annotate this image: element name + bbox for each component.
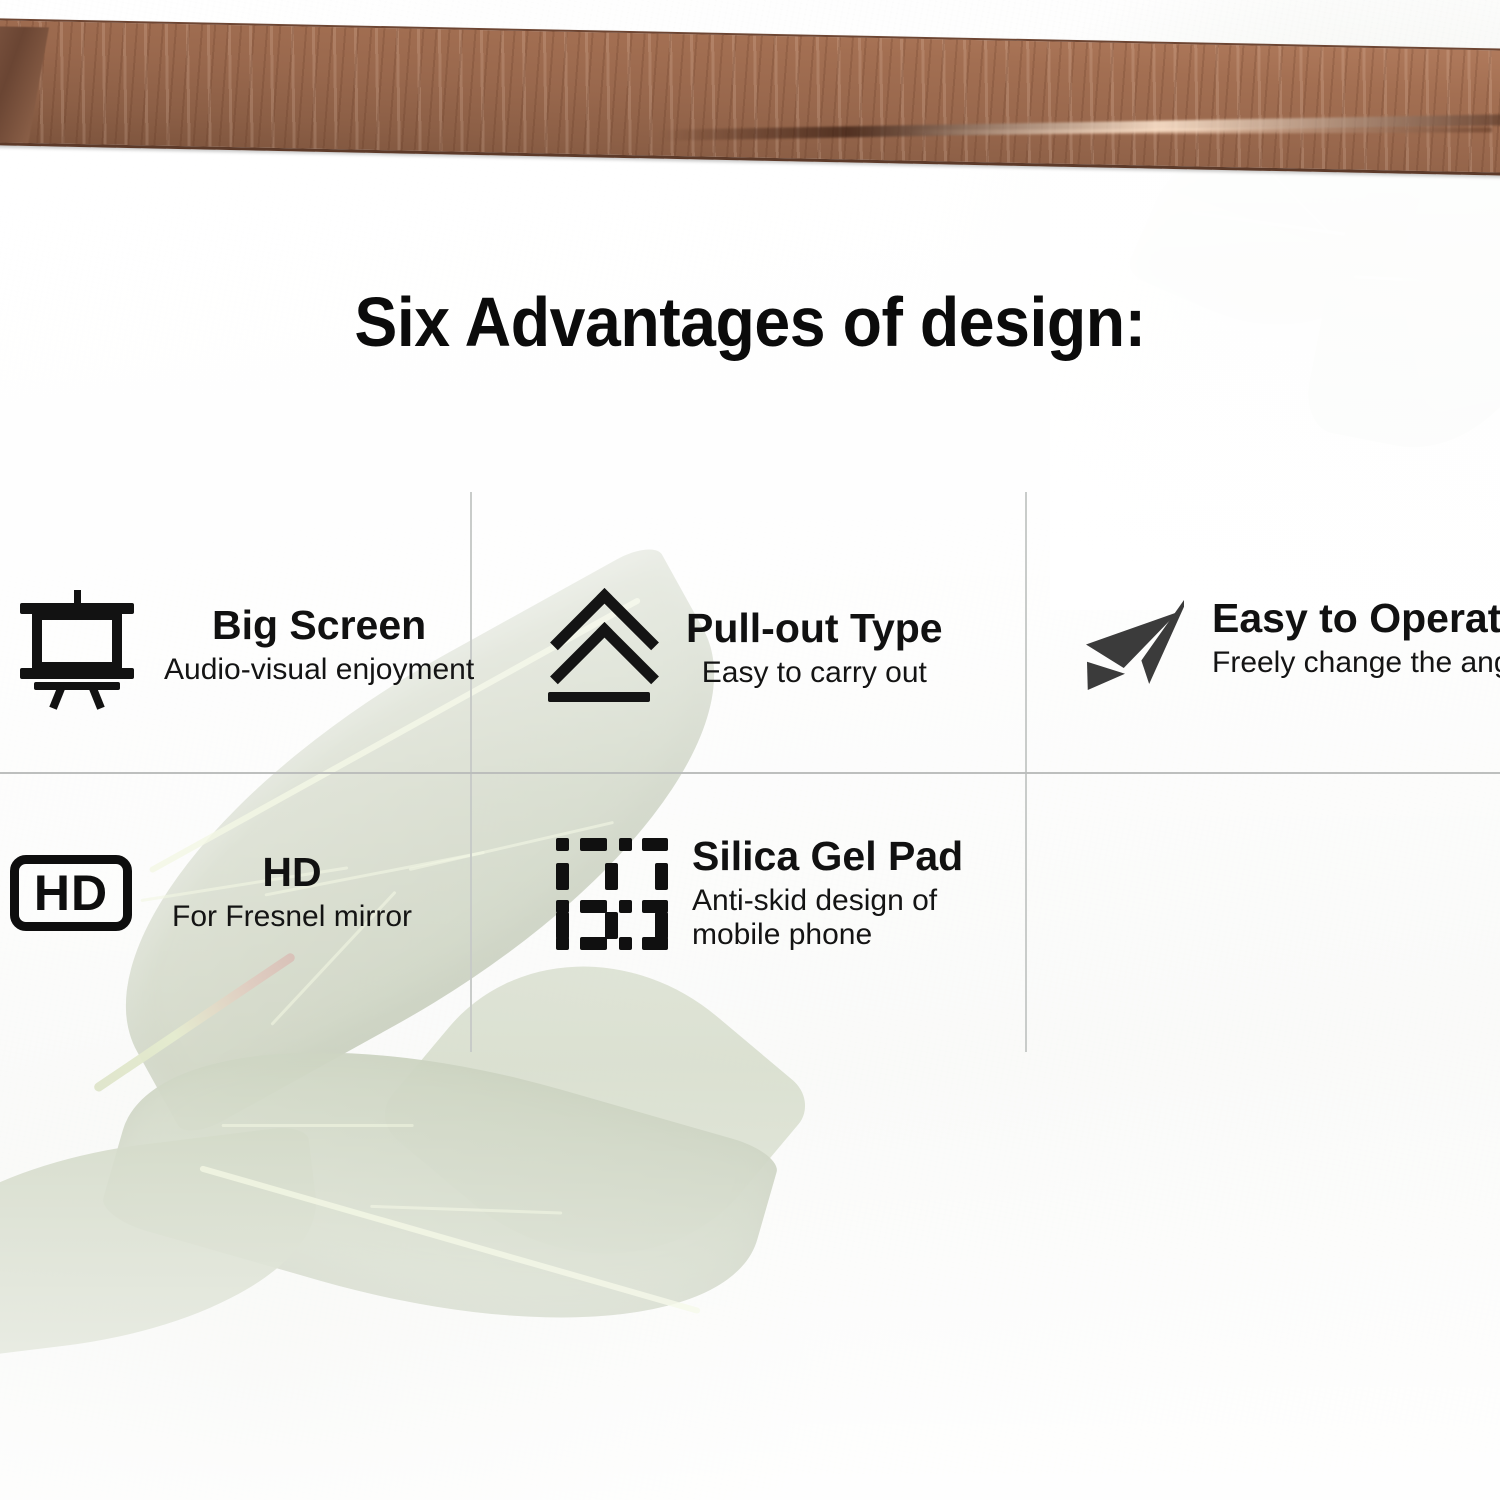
- page-title: Six Advantages of design:: [60, 282, 1440, 362]
- feature-subtitle: Anti-skid design of mobile phone: [692, 884, 992, 951]
- double-chevron-up-icon: [540, 596, 658, 702]
- feature-cell-silica-gel-pad: Silica Gel Pad Anti-skid design of mobil…: [556, 836, 992, 951]
- projector-screen-icon: [18, 590, 136, 702]
- feature-cell-easy-to-operate: Easy to Operate Freely change the angle: [1086, 590, 1500, 688]
- feature-text-easy-to-operate: Easy to Operate Freely change the angle: [1212, 598, 1500, 680]
- feature-title: Pull-out Type: [686, 608, 943, 649]
- content-layer: Six Advantages of design: Big Screen Aud…: [0, 0, 1500, 1500]
- feature-cell-hd: HD HD For Fresnel mirror: [10, 852, 412, 934]
- infographic-canvas: Six Advantages of design: Big Screen Aud…: [0, 0, 1500, 1500]
- dashed-grid-icon: [556, 838, 668, 950]
- feature-text-big-screen: Big Screen Audio-visual enjoyment: [164, 605, 474, 687]
- feature-title: Silica Gel Pad: [692, 836, 963, 877]
- grid-divider-horizontal: [0, 772, 1500, 774]
- hd-badge-icon: HD: [10, 855, 132, 931]
- feature-cell-pull-out-type: Pull-out Type Easy to carry out: [540, 596, 943, 702]
- feature-title: Easy to Operate: [1212, 598, 1500, 639]
- feature-subtitle: Freely change the angle: [1212, 646, 1500, 680]
- paper-plane-icon: [1086, 590, 1192, 688]
- feature-title: HD: [262, 852, 321, 893]
- feature-text-hd: HD For Fresnel mirror: [172, 852, 412, 934]
- feature-subtitle: For Fresnel mirror: [172, 900, 412, 934]
- feature-text-pull-out-type: Pull-out Type Easy to carry out: [686, 608, 943, 690]
- feature-text-silica-gel-pad: Silica Gel Pad Anti-skid design of mobil…: [692, 836, 992, 951]
- hd-badge-label: HD: [34, 868, 108, 918]
- feature-subtitle: Easy to carry out: [702, 656, 927, 690]
- feature-title: Big Screen: [212, 605, 426, 646]
- feature-subtitle: Audio-visual enjoyment: [164, 653, 474, 687]
- feature-cell-big-screen: Big Screen Audio-visual enjoyment: [18, 590, 474, 702]
